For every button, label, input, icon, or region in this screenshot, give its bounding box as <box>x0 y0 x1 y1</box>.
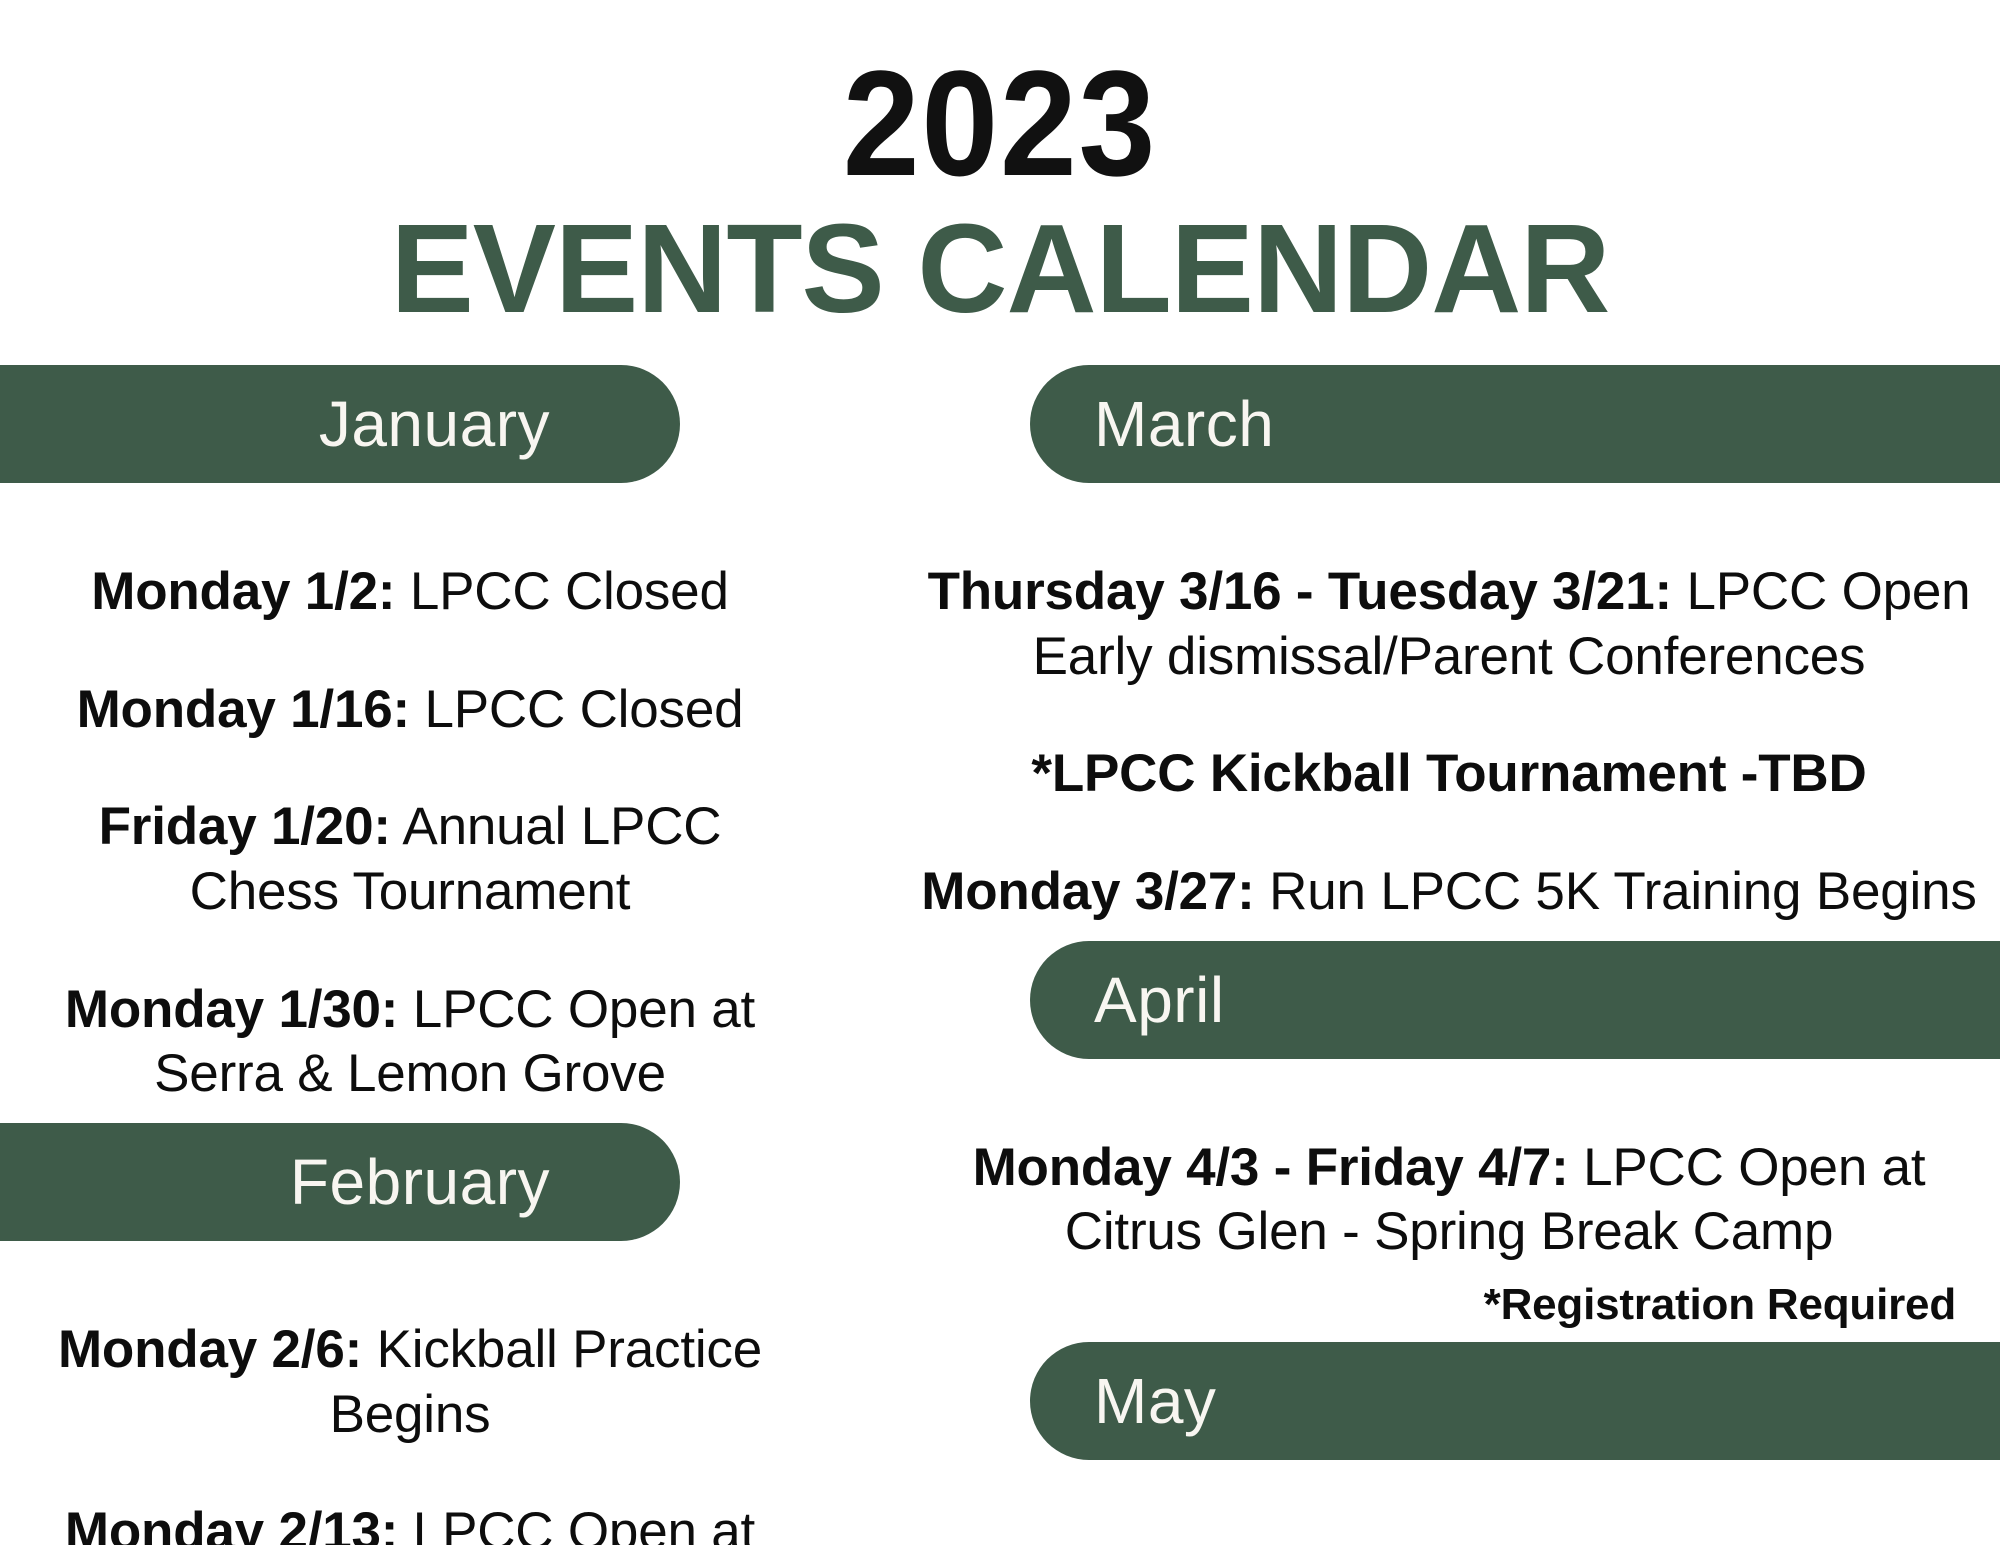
event-item: Monday 1/16: LPCC Closed <box>40 678 780 743</box>
month-label: May <box>1094 1364 1216 1438</box>
events-list-february: Monday 2/6: Kickball Practice BeginsMond… <box>0 1241 820 1545</box>
event-date: Monday 2/13: <box>65 1502 398 1545</box>
event-date: Monday 1/2: <box>91 562 395 621</box>
event-item: Saturday 5/13: Run LPCC Family 5K Run <box>920 1537 1978 1545</box>
events-list-april: Monday 4/3 - Friday 4/7: LPCC Open at Ci… <box>880 1059 2000 1332</box>
event-item: Monday 2/6: Kickball Practice Begins <box>40 1318 780 1447</box>
event-item: Thursday 3/16 - Tuesday 3/21: LPCC Open … <box>920 560 1978 689</box>
month-header-march: March <box>1030 365 2000 483</box>
event-item: Monday 3/27: Run LPCC 5K Training Begins <box>920 860 1978 925</box>
event-description: Kickball Practice Begins <box>330 1320 762 1444</box>
page-title: EVENTS CALENDAR <box>10 206 1990 332</box>
events-list-march: Thursday 3/16 - Tuesday 3/21: LPCC Open … <box>880 483 2000 925</box>
events-list-january: Monday 1/2: LPCC ClosedMonday 1/16: LPCC… <box>0 483 820 1107</box>
event-item: Monday 2/13: LPCC Open at Citrus Glen & … <box>40 1500 780 1545</box>
event-item: *LPCC Kickball Tournament -TBD <box>920 742 1978 807</box>
event-item: Monday 1/30: LPCC Open at Serra & Lemon … <box>40 978 780 1107</box>
month-label: February <box>290 1145 550 1219</box>
month-label: January <box>319 387 550 461</box>
event-date: Monday 4/3 - Friday 4/7: <box>973 1138 1569 1197</box>
event-description: Run LPCC 5K Training Begins <box>1255 862 1977 921</box>
event-date: Monday 3/27: <box>921 862 1254 921</box>
left-column: JanuaryMonday 1/2: LPCC ClosedMonday 1/1… <box>0 365 820 1545</box>
event-date: Thursday 3/16 - Tuesday 3/21: <box>928 562 1672 621</box>
month-label: March <box>1094 387 1274 461</box>
event-item: Friday 1/20: Annual LPCC Chess Tournamen… <box>40 795 780 924</box>
event-description: LPCC Closed <box>410 680 743 739</box>
month-header-april: April <box>1030 941 2000 1059</box>
event-date: Monday 1/16: <box>77 680 410 739</box>
events-list-may: Saturday 5/13: Run LPCC Family 5K RunMon… <box>880 1460 2000 1545</box>
event-date: Monday 1/30: <box>65 980 398 1039</box>
events-calendar-page: 2023 EVENTS CALENDAR JanuaryMonday 1/2: … <box>0 0 2000 1545</box>
event-date: Friday 1/20: <box>99 797 391 856</box>
month-label: April <box>1094 963 1225 1037</box>
month-header-february: February <box>0 1123 680 1241</box>
event-date: *LPCC Kickball Tournament -TBD <box>1031 744 1866 803</box>
registration-note: *Registration Required <box>920 1279 1978 1332</box>
page-header: 2023 EVENTS CALENDAR <box>0 0 2000 332</box>
event-date: Saturday 5/13: <box>956 1539 1316 1545</box>
page-year: 2023 <box>80 48 1920 198</box>
month-header-may: May <box>1030 1342 2000 1460</box>
event-date: Monday 2/6: <box>58 1320 362 1379</box>
month-header-january: January <box>0 365 680 483</box>
event-item: Monday 1/2: LPCC Closed <box>40 560 780 625</box>
event-description: Run LPCC Family 5K Run <box>1316 1539 1942 1545</box>
event-item: Monday 4/3 - Friday 4/7: LPCC Open at Ci… <box>920 1136 1978 1265</box>
right-column: MarchThursday 3/16 - Tuesday 3/21: LPCC … <box>880 365 2000 1545</box>
event-description: LPCC Closed <box>395 562 728 621</box>
